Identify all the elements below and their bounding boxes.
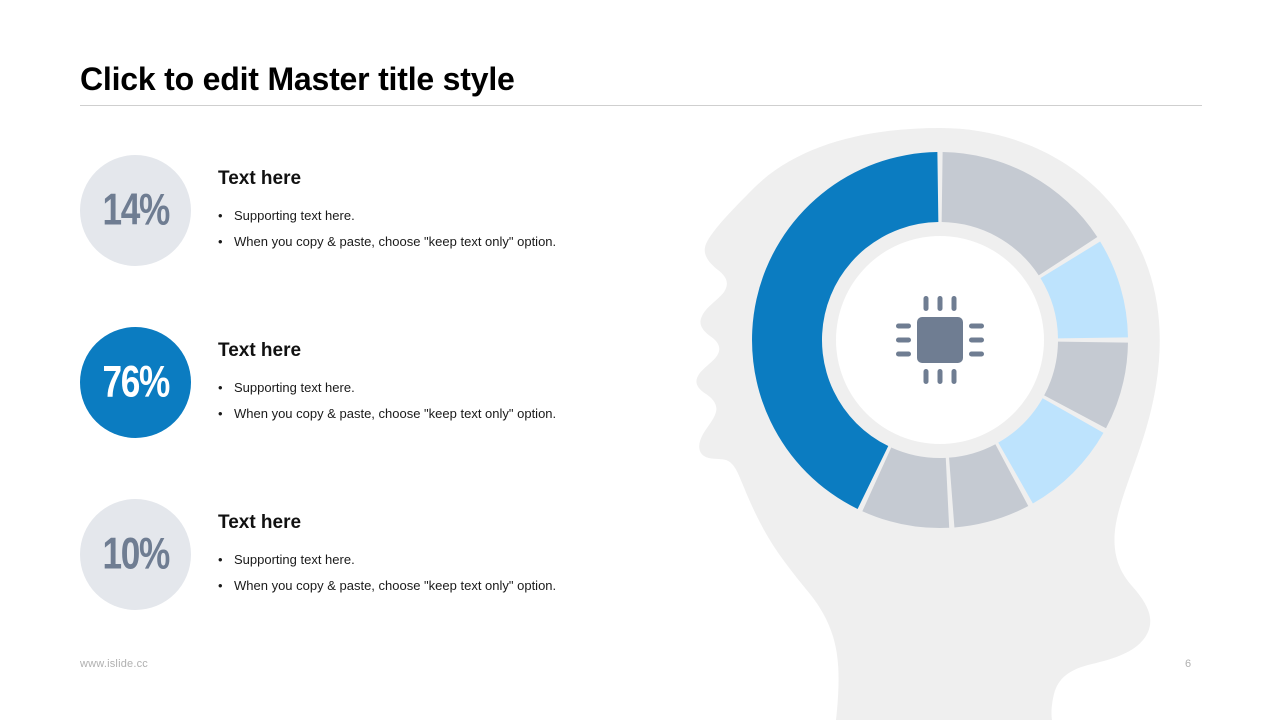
- bullet-text: When you copy & paste, choose "keep text…: [234, 573, 556, 599]
- bullet-text: Supporting text here.: [234, 375, 355, 401]
- bullet-dot-icon: •: [218, 573, 234, 599]
- bullet-text: When you copy & paste, choose "keep text…: [234, 229, 556, 255]
- stat-item-row: 76% Text here • Supporting text here. • …: [80, 327, 640, 439]
- stat-item-bullet: • When you copy & paste, choose "keep te…: [218, 573, 638, 599]
- bullet-dot-icon: •: [218, 547, 234, 573]
- stat-item-text: Text here • Supporting text here. • When…: [218, 339, 638, 427]
- slide-canvas: Click to edit Master title style 14% Tex…: [0, 0, 1280, 720]
- stat-item-bullet: • When you copy & paste, choose "keep te…: [218, 229, 638, 255]
- bullet-text: When you copy & paste, choose "keep text…: [234, 401, 556, 427]
- percent-circle[interactable]: 14%: [80, 155, 191, 266]
- bullet-dot-icon: •: [218, 375, 234, 401]
- percent-value: 76%: [102, 359, 168, 404]
- stat-item-bullet: • Supporting text here.: [218, 375, 638, 401]
- page-number: 6: [1185, 658, 1191, 670]
- footer-url[interactable]: www.islide.cc: [80, 658, 148, 670]
- title-divider: [80, 105, 1202, 106]
- page-title[interactable]: Click to edit Master title style: [80, 58, 1202, 100]
- percent-value: 14%: [102, 187, 168, 232]
- percent-value: 10%: [102, 531, 168, 576]
- stat-item-bullet: • Supporting text here.: [218, 203, 638, 229]
- bullet-dot-icon: •: [218, 203, 234, 229]
- stat-item-row: 14% Text here • Supporting text here. • …: [80, 155, 640, 267]
- bullet-dot-icon: •: [218, 401, 234, 427]
- bullet-text: Supporting text here.: [234, 203, 355, 229]
- bullet-text: Supporting text here.: [234, 547, 355, 573]
- bullet-dot-icon: •: [218, 229, 234, 255]
- stat-item-heading[interactable]: Text here: [218, 339, 638, 363]
- stat-item-bullet: • When you copy & paste, choose "keep te…: [218, 401, 638, 427]
- title-block[interactable]: Click to edit Master title style: [80, 58, 1202, 100]
- stat-item-heading[interactable]: Text here: [218, 511, 638, 535]
- stat-item-row: 10% Text here • Supporting text here. • …: [80, 499, 640, 611]
- stat-item-heading[interactable]: Text here: [218, 167, 638, 191]
- stat-item-text: Text here • Supporting text here. • When…: [218, 511, 638, 599]
- percent-circle[interactable]: 10%: [80, 499, 191, 610]
- stat-item-bullet: • Supporting text here.: [218, 547, 638, 573]
- stat-item-text: Text here • Supporting text here. • When…: [218, 167, 638, 255]
- percent-circle[interactable]: 76%: [80, 327, 191, 438]
- brain-donut-graphic: [640, 110, 1260, 720]
